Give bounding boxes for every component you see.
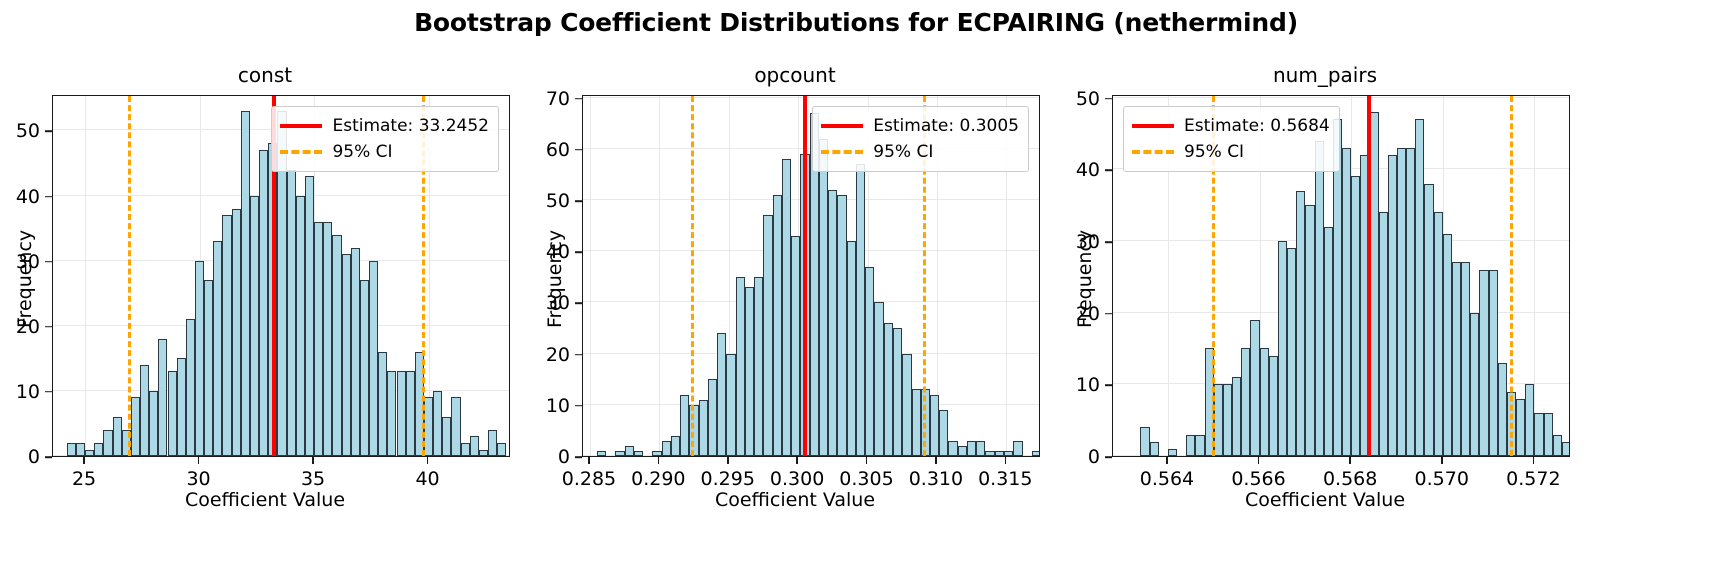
histogram-bar <box>625 446 634 456</box>
legend: Estimate: 0.568495% CI <box>1123 106 1340 172</box>
histogram-bar <box>259 150 268 456</box>
x-tick-mark <box>427 457 429 464</box>
histogram-bar <box>1424 184 1433 456</box>
histogram-bar <box>195 261 204 456</box>
x-tick-mark <box>1349 457 1351 464</box>
histogram-bar <box>736 277 745 456</box>
x-tick-label: 0.572 <box>1506 468 1560 490</box>
legend: Estimate: 0.300595% CI <box>812 106 1029 172</box>
histogram-bar <box>958 446 967 456</box>
y-tick-mark <box>1105 456 1112 458</box>
histogram-bar <box>985 451 994 456</box>
y-tick-mark <box>1105 98 1112 100</box>
x-tick-label: 0.300 <box>770 468 824 490</box>
legend-label: 95% CI <box>1184 144 1244 161</box>
y-axis-label: Frequency <box>14 230 36 328</box>
y-tick-label: 30 <box>546 292 570 314</box>
histogram-bar <box>1305 205 1314 456</box>
histogram-bar <box>893 328 902 456</box>
histogram-bar <box>1562 442 1570 456</box>
y-tick-mark <box>575 303 582 305</box>
histogram-bar <box>671 436 680 456</box>
histogram-bar <box>323 222 332 456</box>
histogram-bar <box>85 450 94 457</box>
estimate-line <box>1367 96 1371 456</box>
histogram-bar <box>939 410 948 456</box>
histogram-bar <box>1140 427 1149 456</box>
histogram-bar <box>754 277 763 456</box>
histogram-bar <box>1415 119 1424 456</box>
histogram-bar <box>360 280 369 456</box>
histogram-bar <box>782 159 791 456</box>
ci-lower-line <box>128 96 131 456</box>
histogram-bar <box>213 241 222 456</box>
histogram-bar <box>76 443 85 456</box>
subplot-title: opcount <box>530 63 1060 87</box>
ci-swatch-icon <box>1132 144 1174 160</box>
histogram-bar <box>1195 435 1204 457</box>
x-tick-mark <box>866 457 868 464</box>
histogram-bar <box>241 111 250 456</box>
histogram-bar <box>1397 148 1406 456</box>
histogram-bar <box>1186 435 1195 457</box>
y-tick-mark <box>575 149 582 151</box>
gridline-horizontal <box>1113 97 1569 98</box>
histogram-bar <box>763 215 772 456</box>
histogram-bar <box>874 302 883 456</box>
x-tick-label: 35 <box>301 468 325 490</box>
histogram-bar <box>103 430 112 456</box>
histogram-bar <box>745 287 754 456</box>
histogram-bar <box>470 436 479 456</box>
legend-item-estimate: Estimate: 0.5684 <box>1132 113 1330 139</box>
histogram-bar <box>442 417 451 456</box>
histogram-bar <box>186 319 195 456</box>
estimate-swatch-icon <box>280 118 322 134</box>
histogram-bar <box>1479 270 1488 456</box>
histogram-bar <box>232 209 241 456</box>
y-tick-label: 40 <box>546 241 570 263</box>
histogram-bar <box>433 391 442 456</box>
histogram-bar <box>1525 384 1534 456</box>
y-tick-label: 20 <box>546 344 570 366</box>
histogram-bar <box>204 280 213 456</box>
histogram-bar <box>177 358 186 456</box>
legend-label: 95% CI <box>332 144 392 161</box>
y-tick-mark <box>45 131 52 133</box>
x-tick-mark <box>1441 457 1443 464</box>
x-tick-label: 0.564 <box>1140 468 1194 490</box>
histogram-bar <box>1516 399 1525 456</box>
histogram-bar <box>397 371 406 456</box>
legend-item-ci: 95% CI <box>821 139 1019 165</box>
legend-label: 95% CI <box>873 144 933 161</box>
subplot-title: const <box>0 63 530 87</box>
x-tick-label: 0.570 <box>1415 468 1469 490</box>
legend-label: Estimate: 33.2452 <box>332 118 489 135</box>
histogram-bar <box>1406 148 1415 456</box>
histogram-bar <box>662 441 671 456</box>
histogram-bar <box>597 451 606 456</box>
x-axis-label: Coefficient Value <box>530 489 1060 511</box>
histogram-bar <box>488 430 497 456</box>
y-tick-label: 10 <box>16 381 40 403</box>
legend: Estimate: 33.245295% CI <box>271 106 499 172</box>
histogram-bar <box>1032 451 1040 456</box>
histogram-bar <box>1351 176 1360 456</box>
histogram-bar <box>1150 442 1159 456</box>
y-tick-mark <box>575 200 582 202</box>
histogram-bar <box>332 235 341 456</box>
histogram-bar <box>1315 141 1324 456</box>
x-tick-mark <box>198 457 200 464</box>
y-tick-label: 30 <box>1076 231 1100 253</box>
histogram-bar <box>1324 227 1333 456</box>
histogram-bar <box>1278 241 1287 456</box>
histogram-bar <box>113 417 122 456</box>
histogram-bar <box>378 352 387 456</box>
histogram-bar <box>461 443 470 456</box>
y-tick-label: 50 <box>1076 88 1100 110</box>
ci-lower-line <box>691 96 694 456</box>
histogram-bar <box>1214 384 1223 456</box>
y-tick-label: 50 <box>16 120 40 142</box>
x-tick-mark <box>727 457 729 464</box>
histogram-bar <box>726 354 735 456</box>
x-tick-label: 0.290 <box>631 468 685 490</box>
x-tick-mark <box>796 457 798 464</box>
y-tick-mark <box>45 261 52 263</box>
histogram-bar <box>1223 384 1232 456</box>
y-tick-label: 20 <box>1076 303 1100 325</box>
histogram-bar <box>314 222 323 456</box>
histogram-bar <box>222 215 231 456</box>
histogram-bar <box>1434 212 1443 456</box>
subplot-opcount: opcountFrequencyCoefficient ValueEstimat… <box>530 0 1060 569</box>
histogram-bar <box>497 443 506 456</box>
histogram-bar <box>140 365 149 456</box>
histogram-bar <box>773 195 782 456</box>
plot-area: Estimate: 0.568495% CI <box>1112 95 1570 457</box>
histogram-bar <box>819 139 828 456</box>
histogram-bar <box>168 371 177 456</box>
y-tick-label: 30 <box>16 251 40 273</box>
legend-item-ci: 95% CI <box>280 139 489 165</box>
histogram-bar <box>1498 363 1507 456</box>
histogram-bar <box>902 354 911 456</box>
y-tick-mark <box>1105 241 1112 243</box>
gridline-vertical <box>1534 96 1535 456</box>
histogram-bar <box>884 323 893 456</box>
x-tick-mark <box>588 457 590 464</box>
x-tick-mark <box>1005 457 1007 464</box>
y-tick-mark <box>45 456 52 458</box>
estimate-swatch-icon <box>821 118 863 134</box>
y-tick-label: 70 <box>546 88 570 110</box>
x-tick-label: 0.310 <box>909 468 963 490</box>
y-tick-mark <box>45 391 52 393</box>
y-tick-label: 20 <box>16 316 40 338</box>
histogram-bar <box>828 190 837 456</box>
histogram-bar <box>652 451 661 456</box>
histogram-bar <box>1287 248 1296 456</box>
x-tick-label: 30 <box>186 468 210 490</box>
histogram-bar <box>1013 441 1022 456</box>
legend-item-estimate: Estimate: 0.3005 <box>821 113 1019 139</box>
x-tick-mark <box>1166 457 1168 464</box>
histogram-bar <box>1470 313 1479 456</box>
ci-upper-line <box>1510 96 1513 456</box>
estimate-swatch-icon <box>1132 118 1174 134</box>
y-tick-label: 50 <box>546 190 570 212</box>
histogram-bar <box>1443 234 1452 456</box>
histogram-bar <box>1168 449 1177 456</box>
y-tick-label: 10 <box>546 395 570 417</box>
legend-item-ci: 95% CI <box>1132 139 1330 165</box>
histogram-bar <box>976 441 985 456</box>
histogram-bar <box>149 391 158 456</box>
x-tick-mark <box>83 457 85 464</box>
x-axis-label: Coefficient Value <box>1060 489 1590 511</box>
x-tick-mark <box>935 457 937 464</box>
x-tick-label: 0.295 <box>701 468 755 490</box>
x-tick-mark <box>1533 457 1535 464</box>
gridline-vertical <box>659 96 660 456</box>
histogram-bar <box>837 195 846 456</box>
histogram-bar <box>1388 155 1397 456</box>
histogram-bar <box>1544 413 1553 456</box>
histogram-bar <box>387 371 396 456</box>
histogram-bar <box>912 389 921 456</box>
x-axis-label: Coefficient Value <box>0 489 530 511</box>
x-tick-mark <box>658 457 660 464</box>
histogram-bar <box>406 371 415 456</box>
histogram-bar <box>94 443 103 456</box>
histogram-bar <box>948 441 957 456</box>
legend-item-estimate: Estimate: 33.2452 <box>280 113 489 139</box>
histogram-bar <box>856 164 865 456</box>
x-tick-label: 0.305 <box>839 468 893 490</box>
subplot-title: num_pairs <box>1060 63 1590 87</box>
y-tick-label: 0 <box>1088 446 1100 468</box>
histogram-bar <box>424 397 433 456</box>
y-tick-mark <box>1105 385 1112 387</box>
histogram-bar <box>1489 270 1498 456</box>
histogram-bar <box>1260 348 1269 456</box>
histogram-bar <box>131 397 140 456</box>
histogram-bar <box>1241 348 1250 456</box>
histogram-bar <box>791 236 800 456</box>
histogram-bar <box>158 339 167 456</box>
y-tick-label: 10 <box>1076 374 1100 396</box>
y-tick-label: 60 <box>546 139 570 161</box>
subplot-num-pairs: num_pairsFrequencyCoefficient ValueEstim… <box>1060 0 1590 569</box>
x-tick-label: 0.315 <box>978 468 1032 490</box>
y-tick-mark <box>575 354 582 356</box>
x-tick-label: 0.568 <box>1323 468 1377 490</box>
histogram-bar <box>1534 413 1543 456</box>
histogram-bar <box>967 441 976 456</box>
estimate-line <box>803 96 807 456</box>
x-tick-mark <box>312 457 314 464</box>
histogram-bar <box>1269 356 1278 456</box>
gridline-horizontal <box>583 97 1039 98</box>
histogram-bar <box>1250 320 1259 456</box>
histogram-bar <box>305 176 314 456</box>
histogram-bar <box>1232 377 1241 456</box>
y-tick-label: 40 <box>16 186 40 208</box>
histogram-bar <box>351 248 360 456</box>
histogram-bar <box>287 170 296 456</box>
histogram-bar <box>1379 212 1388 456</box>
histogram-bar <box>369 261 378 456</box>
histogram-bar <box>479 450 488 457</box>
histogram-bar <box>717 333 726 456</box>
y-tick-mark <box>575 98 582 100</box>
legend-label: Estimate: 0.3005 <box>873 118 1019 135</box>
histogram-bar <box>250 196 259 456</box>
y-tick-mark <box>45 326 52 328</box>
histogram-bar <box>865 267 874 456</box>
histogram-bar <box>847 241 856 456</box>
histogram-bar <box>1452 262 1461 456</box>
histogram-bar <box>1461 262 1470 456</box>
y-tick-mark <box>1105 313 1112 315</box>
histogram-bar <box>699 400 708 456</box>
plot-area: Estimate: 33.245295% CI <box>52 95 510 457</box>
histogram-bar <box>296 196 305 456</box>
histogram-bar <box>680 395 689 456</box>
histogram-bar <box>67 443 76 456</box>
y-tick-mark <box>1105 169 1112 171</box>
subplot-const: constFrequencyCoefficient ValueEstimate:… <box>0 0 530 569</box>
y-tick-label: 0 <box>558 446 570 468</box>
y-tick-label: 40 <box>1076 159 1100 181</box>
y-tick-label: 0 <box>28 446 40 468</box>
ci-swatch-icon <box>821 144 863 160</box>
histogram-bar <box>1296 191 1305 456</box>
histogram-bar <box>930 395 939 456</box>
plot-area: Estimate: 0.300595% CI <box>582 95 1040 457</box>
x-tick-mark <box>1258 457 1260 464</box>
y-tick-mark <box>575 405 582 407</box>
histogram-bar <box>451 397 460 456</box>
x-tick-label: 25 <box>72 468 96 490</box>
histogram-bar <box>708 379 717 456</box>
histogram-bar <box>615 451 624 456</box>
x-tick-label: 0.285 <box>562 468 616 490</box>
histogram-bar <box>342 254 351 456</box>
histogram-bar <box>634 451 643 456</box>
figure-canvas: Bootstrap Coefficient Distributions for … <box>0 0 1712 569</box>
histogram-bar <box>995 451 1004 456</box>
y-tick-mark <box>575 456 582 458</box>
gridline-vertical <box>590 96 591 456</box>
histogram-bar <box>1004 451 1013 456</box>
histogram-bar <box>1342 148 1351 456</box>
ci-swatch-icon <box>280 144 322 160</box>
histogram-bar <box>1553 435 1562 457</box>
y-tick-mark <box>45 196 52 198</box>
gridline-vertical <box>85 96 86 456</box>
x-tick-label: 40 <box>415 468 439 490</box>
y-tick-mark <box>575 251 582 253</box>
legend-label: Estimate: 0.5684 <box>1184 118 1330 135</box>
x-tick-label: 0.566 <box>1231 468 1285 490</box>
